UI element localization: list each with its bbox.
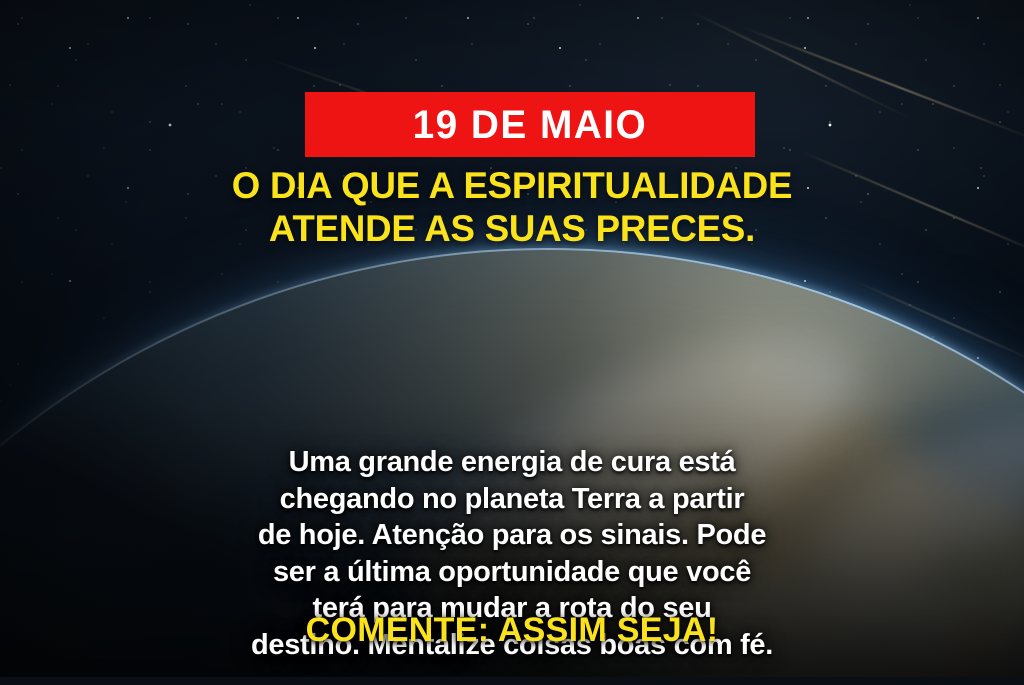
body-line-3: de hoje. Atenção para os sinais. Pode: [0, 517, 1024, 554]
body-line-2: chegando no planeta Terra a partir: [0, 481, 1024, 518]
date-banner: 19 DE MAIO: [305, 92, 755, 157]
call-to-action-text: COMENTE: ASSIM SEJA!: [0, 612, 1024, 649]
body-line-1: Uma grande energia de cura está: [0, 444, 1024, 481]
poster-content: 19 DE MAIO O DIA QUE A ESPIRITUALIDADE A…: [0, 0, 1024, 685]
poster-canvas: 19 DE MAIO O DIA QUE A ESPIRITUALIDADE A…: [0, 0, 1024, 685]
date-banner-label: 19 DE MAIO: [413, 105, 647, 145]
headline-line-1: O DIA QUE A ESPIRITUALIDADE: [5, 164, 1019, 207]
headline-line-2: ATENDE AS SUAS PRECES.: [5, 207, 1019, 250]
headline: O DIA QUE A ESPIRITUALIDADE ATENDE AS SU…: [0, 164, 1024, 251]
body-line-4: ser a última oportunidade que você: [0, 554, 1024, 591]
